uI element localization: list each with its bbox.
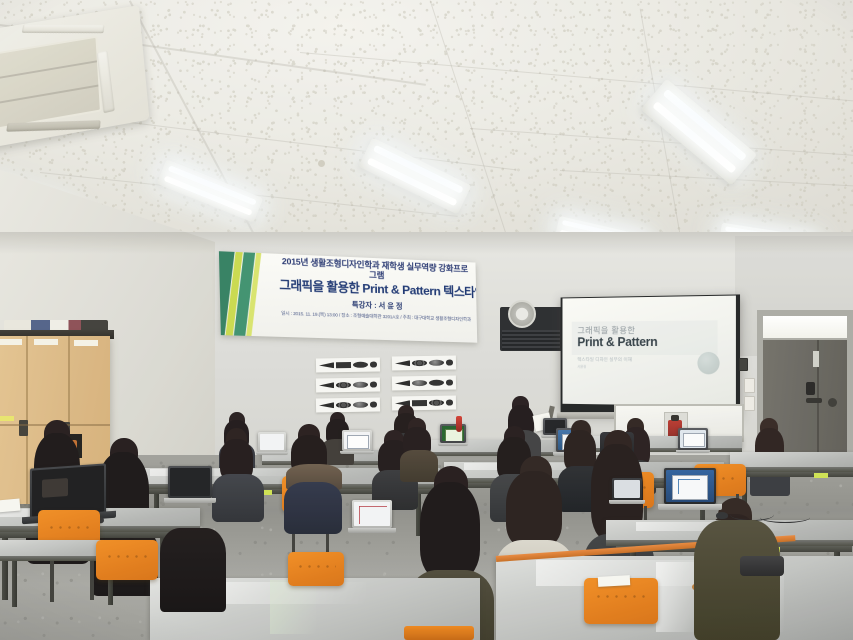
handout-paper — [598, 575, 630, 587]
pattern-swatch-ring — [336, 402, 351, 408]
pattern-swatch-round — [353, 382, 368, 388]
slide-decorative-circle — [697, 352, 719, 374]
bag — [740, 556, 784, 576]
cabinet-label — [34, 339, 58, 345]
pattern-swatch-round — [429, 360, 444, 366]
chair-seat[interactable] — [404, 626, 474, 640]
light-switch[interactable] — [744, 378, 755, 393]
pattern-swatch-thin — [370, 381, 377, 387]
door-transom-window — [763, 316, 847, 338]
classroom-chair[interactable] — [96, 540, 158, 580]
ac-grille — [0, 36, 102, 132]
ceiling-sprinkler-icon — [318, 160, 325, 167]
classroom-table — [730, 452, 853, 467]
slide-byline: 서윤정 — [577, 364, 586, 369]
classroom-photo: 2015년 생활조형디자인학과 재학생 실무역량 강화프로그램 그래픽을 활용한… — [0, 0, 853, 640]
outlet-icon — [739, 358, 748, 371]
pattern-swatch-ring — [429, 400, 444, 406]
student-coat — [694, 520, 780, 640]
light-switch[interactable] — [744, 396, 755, 411]
pattern-sample-strip — [316, 377, 380, 392]
cabinet-label — [0, 416, 14, 421]
ac-vane — [22, 25, 105, 34]
pattern-swatch-triangle — [395, 380, 410, 386]
pattern-swatch-thin — [446, 359, 453, 365]
fire-extinguisher-handle — [671, 415, 679, 421]
pattern-sample-strip — [316, 357, 380, 372]
pattern-swatch-ring — [336, 382, 351, 388]
classroom-chair[interactable] — [288, 552, 344, 586]
cabinet-label — [74, 340, 98, 346]
pattern-swatch-triangle — [319, 382, 334, 388]
wall-ceiling-shadow — [0, 232, 853, 254]
ac-vane — [6, 120, 100, 131]
door-sign — [813, 351, 819, 367]
cable — [760, 512, 810, 523]
pattern-swatch-round — [412, 380, 427, 386]
pattern-swatch-thin — [370, 361, 377, 367]
pattern-swatch-triangle — [395, 360, 410, 366]
student-hair — [506, 471, 562, 547]
pattern-swatch-thin — [370, 401, 377, 407]
cabinet-label — [0, 339, 22, 345]
vent-slats — [502, 330, 560, 350]
banner-stripe-graphic — [219, 251, 279, 337]
pattern-swatch-oval — [353, 362, 368, 368]
pattern-sample-strip — [316, 397, 380, 412]
cabinet-handle[interactable] — [19, 420, 28, 436]
screen-surface: 그래픽을 활용한 Print & Pattern 텍스타일 디자인 실무의 이해… — [562, 296, 735, 407]
pattern-swatch-square — [336, 362, 351, 368]
student-coat — [212, 474, 264, 522]
pattern-swatch-triangle — [319, 402, 334, 408]
slide-subtitle: 텍스타일 디자인 실무의 이해 — [577, 357, 632, 363]
mouse[interactable] — [716, 512, 728, 519]
drink-bottle — [456, 416, 462, 432]
student-coat — [400, 450, 438, 482]
door-handle[interactable] — [806, 398, 822, 403]
student-coat — [160, 528, 226, 612]
pattern-swatch-square — [412, 400, 427, 406]
door-lock-icon[interactable] — [806, 382, 815, 395]
event-banner: 2015년 생활조형디자인학과 재학생 실무역량 강화프로그램 그래픽을 활용한… — [219, 251, 477, 342]
pattern-sample-strip — [392, 355, 456, 370]
student-hair — [420, 482, 480, 578]
slide-english-title: Print & Pattern — [577, 335, 657, 349]
pattern-swatch-oval — [429, 380, 444, 386]
pattern-swatch-triangle — [319, 362, 334, 368]
pattern-swatch-thin — [446, 379, 453, 385]
pattern-swatch-ring — [412, 360, 427, 366]
wall-fan-icon — [508, 300, 536, 328]
projection-screen: 그래픽을 활용한 Print & Pattern 텍스타일 디자인 실무의 이해… — [561, 294, 740, 415]
pattern-swatch-round — [353, 402, 368, 408]
pattern-sample-strip — [392, 375, 456, 390]
student-coat — [284, 482, 342, 534]
door-knob[interactable] — [828, 398, 837, 407]
pattern-swatch-thin — [446, 399, 453, 405]
classroom-table — [496, 556, 853, 640]
banner-text-block: 2015년 생활조형디자인학과 재학생 실무역량 강화프로그램 그래픽을 활용한… — [279, 257, 472, 323]
